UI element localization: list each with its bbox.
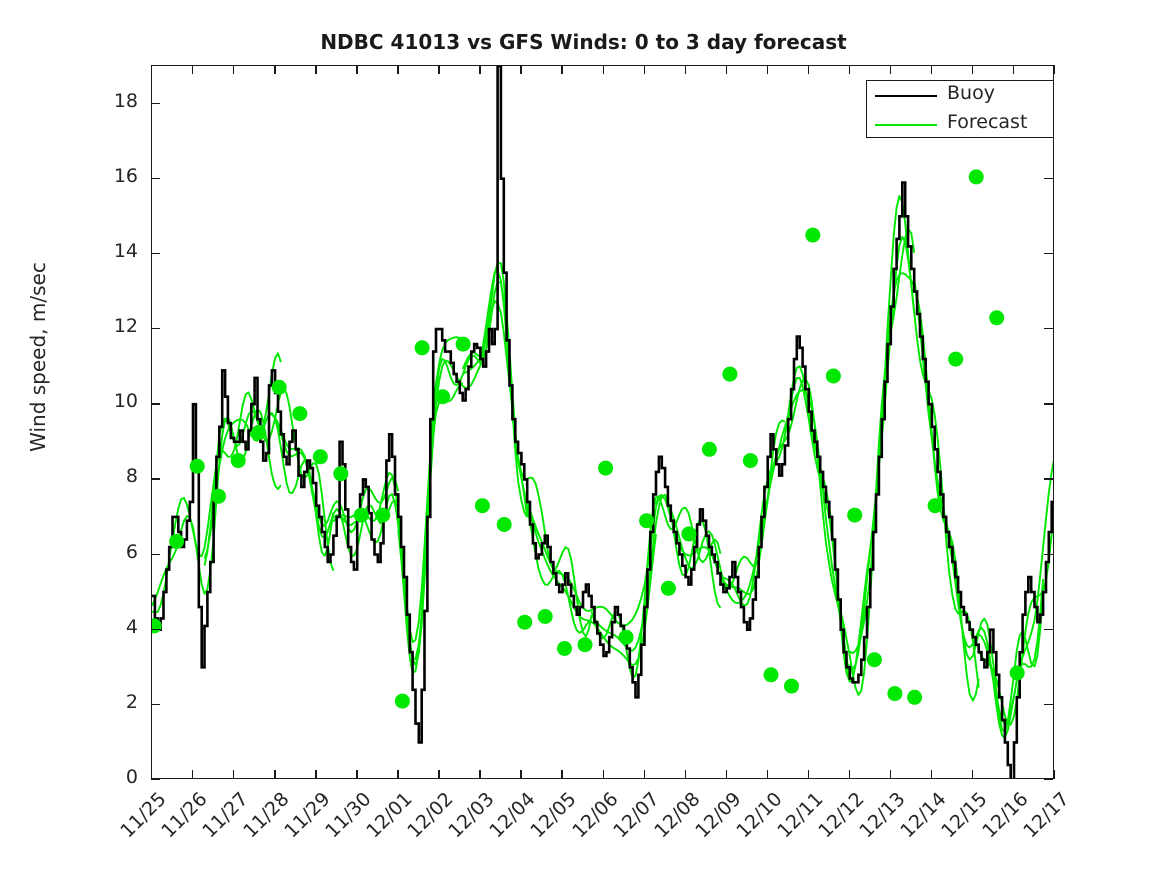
forecast-marker-point bbox=[231, 453, 246, 468]
y-tick-right-4 bbox=[1044, 629, 1053, 630]
x-tick-top-12-13 bbox=[890, 65, 891, 74]
forecast-marker-point bbox=[395, 694, 410, 709]
x-tick-11-28 bbox=[274, 770, 275, 779]
x-tick-11-25 bbox=[151, 770, 152, 779]
y-tick-label-8: 8 bbox=[86, 465, 138, 487]
x-tick-top-12-17 bbox=[1054, 65, 1055, 74]
legend-item-forecast: Forecast bbox=[867, 110, 1053, 139]
x-tick-top-12-16 bbox=[1013, 65, 1014, 74]
y-tick-4 bbox=[151, 629, 160, 630]
forecast-marker-point bbox=[805, 228, 820, 243]
x-tick-top-12-08 bbox=[685, 65, 686, 74]
forecast-marker-point bbox=[928, 498, 943, 513]
y-tick-6 bbox=[151, 554, 160, 555]
y-tick-right-12 bbox=[1044, 328, 1053, 329]
chart-root: NDBC 41013 vs GFS Winds: 0 to 3 day fore… bbox=[0, 0, 1167, 875]
legend-item-buoy: Buoy bbox=[867, 81, 1053, 110]
x-tick-top-11-26 bbox=[192, 65, 193, 74]
forecast-marker-point bbox=[557, 641, 572, 656]
x-tick-12-09 bbox=[726, 770, 727, 779]
x-tick-12-16 bbox=[1013, 770, 1014, 779]
x-tick-top-12-02 bbox=[438, 65, 439, 74]
y-tick-label-18: 18 bbox=[86, 90, 138, 112]
chart-title: NDBC 41013 vs GFS Winds: 0 to 3 day fore… bbox=[0, 30, 1167, 54]
x-tick-top-12-07 bbox=[644, 65, 645, 74]
y-tick-label-2: 2 bbox=[86, 691, 138, 713]
x-tick-top-12-10 bbox=[767, 65, 768, 74]
y-tick-12 bbox=[151, 328, 160, 329]
forecast-marker-point bbox=[907, 690, 922, 705]
x-tick-top-12-03 bbox=[479, 65, 480, 74]
forecast-marker-point bbox=[887, 686, 902, 701]
forecast-marker-point bbox=[598, 461, 613, 476]
forecast-marker-point bbox=[538, 609, 553, 624]
x-tick-top-12-05 bbox=[561, 65, 562, 74]
x-tick-12-11 bbox=[808, 770, 809, 779]
forecast-marker-point bbox=[1010, 665, 1025, 680]
y-tick-18 bbox=[151, 103, 160, 104]
forecast-marker-point bbox=[272, 380, 287, 395]
forecast-marker-point bbox=[475, 498, 490, 513]
x-tick-top-12-01 bbox=[397, 65, 398, 74]
forecast-marker-point bbox=[969, 169, 984, 184]
forecast-member-line bbox=[721, 378, 850, 671]
legend-label-forecast: Forecast bbox=[947, 111, 1027, 133]
x-tick-12-08 bbox=[685, 770, 686, 779]
x-tick-12-14 bbox=[931, 770, 932, 779]
y-axis-title: Wind speed, m/sec bbox=[26, 137, 50, 577]
legend-swatch-buoy bbox=[875, 95, 937, 97]
y-tick-right-2 bbox=[1044, 704, 1053, 705]
forecast-marker-point bbox=[190, 459, 205, 474]
forecast-marker-point bbox=[435, 389, 450, 404]
y-tick-0 bbox=[151, 779, 160, 780]
forecast-marker-point bbox=[764, 667, 779, 682]
y-tick-label-10: 10 bbox=[86, 390, 138, 412]
forecast-marker-point bbox=[722, 367, 737, 382]
x-tick-11-29 bbox=[315, 770, 316, 779]
y-tick-label-4: 4 bbox=[86, 616, 138, 638]
x-tick-top-12-09 bbox=[726, 65, 727, 74]
x-tick-12-12 bbox=[849, 770, 850, 779]
forecast-member-line bbox=[463, 271, 592, 633]
forecast-marker-point bbox=[211, 489, 226, 504]
forecast-marker-point bbox=[743, 453, 758, 468]
forecast-marker-point bbox=[415, 340, 430, 355]
forecast-marker-point bbox=[619, 630, 634, 645]
x-tick-12-05 bbox=[561, 770, 562, 779]
plot-area bbox=[151, 65, 1054, 779]
forecast-marker-point bbox=[517, 615, 532, 630]
forecast-marker-point bbox=[292, 406, 307, 421]
x-tick-top-12-15 bbox=[972, 65, 973, 74]
x-tick-top-11-27 bbox=[233, 65, 234, 74]
forecast-marker-point bbox=[354, 508, 369, 523]
y-tick-right-10 bbox=[1044, 403, 1053, 404]
plot-canvas bbox=[152, 66, 1054, 779]
legend-label-buoy: Buoy bbox=[947, 82, 995, 104]
x-tick-12-06 bbox=[603, 770, 604, 779]
y-tick-label-16: 16 bbox=[86, 165, 138, 187]
x-tick-11-26 bbox=[192, 770, 193, 779]
forecast-marker-point bbox=[661, 581, 676, 596]
x-tick-12-13 bbox=[890, 770, 891, 779]
x-tick-12-17 bbox=[1054, 770, 1055, 779]
y-tick-8 bbox=[151, 478, 160, 479]
x-tick-11-27 bbox=[233, 770, 234, 779]
x-tick-12-15 bbox=[972, 770, 973, 779]
forecast-marker-point bbox=[867, 652, 882, 667]
y-tick-14 bbox=[151, 253, 160, 254]
forecast-marker-point bbox=[784, 679, 799, 694]
y-tick-label-14: 14 bbox=[86, 240, 138, 262]
x-tick-11-30 bbox=[356, 770, 357, 779]
forecast-marker-point bbox=[681, 526, 696, 541]
forecast-member-line bbox=[463, 263, 592, 637]
forecast-marker-point bbox=[948, 352, 963, 367]
y-tick-right-8 bbox=[1044, 478, 1053, 479]
y-tick-16 bbox=[151, 178, 160, 179]
forecast-member-line bbox=[269, 413, 398, 556]
forecast-marker-point bbox=[847, 508, 862, 523]
forecast-member-line bbox=[527, 499, 656, 665]
y-tick-right-0 bbox=[1044, 779, 1053, 780]
x-tick-top-12-06 bbox=[603, 65, 604, 74]
x-tick-12-10 bbox=[767, 770, 768, 779]
forecast-member-line bbox=[850, 273, 979, 700]
forecast-marker-point bbox=[333, 466, 348, 481]
y-tick-right-16 bbox=[1044, 178, 1053, 179]
x-tick-top-12-14 bbox=[931, 65, 932, 74]
y-tick-label-6: 6 bbox=[86, 541, 138, 563]
x-tick-top-12-11 bbox=[808, 65, 809, 74]
forecast-marker-point bbox=[313, 449, 328, 464]
x-tick-top-11-25 bbox=[151, 65, 152, 74]
x-tick-12-03 bbox=[479, 770, 480, 779]
forecast-marker-point bbox=[826, 369, 841, 384]
y-tick-10 bbox=[151, 403, 160, 404]
y-tick-right-6 bbox=[1044, 554, 1053, 555]
buoy-line-group bbox=[152, 66, 1054, 779]
y-tick-label-12: 12 bbox=[86, 315, 138, 337]
forecast-marker-point bbox=[375, 508, 390, 523]
forecast-marker-point bbox=[989, 310, 1004, 325]
x-tick-12-07 bbox=[644, 770, 645, 779]
x-tick-12-04 bbox=[520, 770, 521, 779]
x-tick-top-11-30 bbox=[356, 65, 357, 74]
forecast-marker-point bbox=[169, 534, 184, 549]
x-tick-top-11-29 bbox=[315, 65, 316, 74]
forecast-marker-point bbox=[456, 337, 471, 352]
legend: Buoy Forecast bbox=[866, 80, 1054, 138]
x-tick-top-12-04 bbox=[520, 65, 521, 74]
x-tick-12-02 bbox=[438, 770, 439, 779]
y-tick-label-0: 0 bbox=[86, 766, 138, 788]
x-tick-top-12-12 bbox=[849, 65, 850, 74]
y-tick-right-14 bbox=[1044, 253, 1053, 254]
y-tick-2 bbox=[151, 704, 160, 705]
legend-swatch-forecast bbox=[875, 124, 937, 126]
forecast-marker-point bbox=[578, 637, 593, 652]
buoy-series-line bbox=[152, 66, 1054, 779]
forecast-marker-point bbox=[497, 517, 512, 532]
x-tick-12-01 bbox=[397, 770, 398, 779]
forecast-marker-point bbox=[251, 425, 266, 440]
forecast-marker-point bbox=[702, 442, 717, 457]
x-tick-top-11-28 bbox=[274, 65, 275, 74]
forecast-marker-point bbox=[639, 513, 654, 528]
